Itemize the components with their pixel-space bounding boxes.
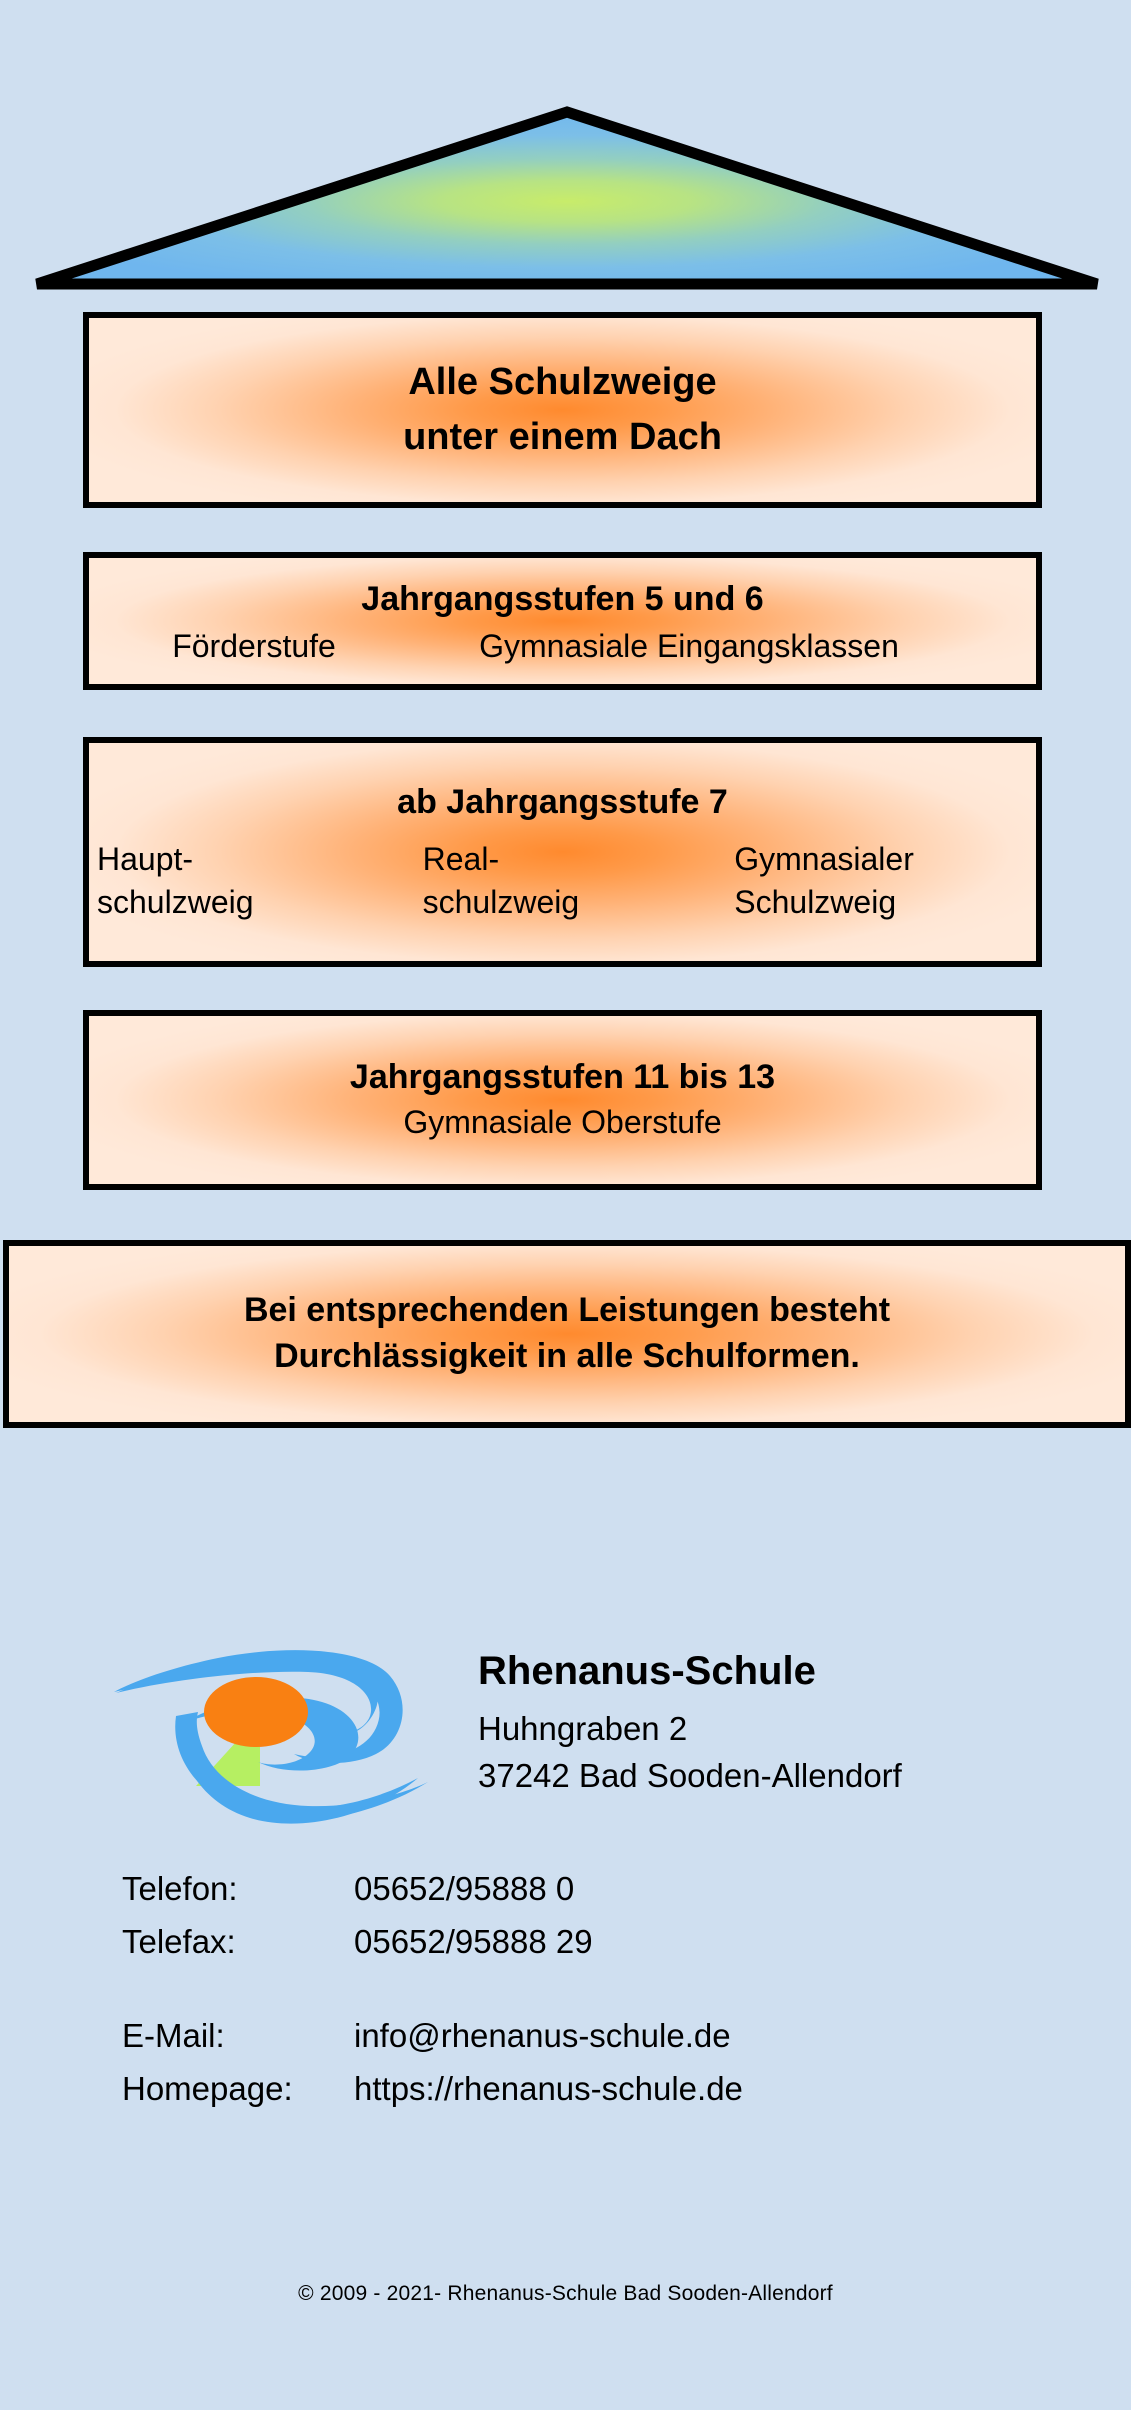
durchlaessigkeit-line-2: Durchlässigkeit in alle Schulformen. xyxy=(274,1334,860,1380)
headline-line-1: Alle Schulzweige xyxy=(408,355,716,410)
zweig-hauptschule-line-1: Haupt- xyxy=(97,838,405,881)
telefon-value: 05652/95888 0 xyxy=(354,1862,1022,1915)
box-stufen-5-6: Jahrgangsstufen 5 und 6 Förderstufe Gymn… xyxy=(83,552,1042,690)
contact-block: Telefon: 05652/95888 0 Telefax: 05652/95… xyxy=(122,1862,1022,2116)
box-durchlaessigkeit: Bei entsprechenden Leistungen besteht Du… xyxy=(3,1240,1131,1428)
headline-line-2: unter einem Dach xyxy=(403,410,722,465)
roof-triangle xyxy=(0,0,1131,300)
page-root: Alle Schulzweige unter einem Dach Jahrga… xyxy=(0,0,1131,2410)
zweig-realschule-line-2: schulzweig xyxy=(423,881,721,924)
box-headline: Alle Schulzweige unter einem Dach xyxy=(83,312,1042,508)
ab-stufe-7-columns: Haupt- schulzweig Real- schulzweig Gymna… xyxy=(89,838,1036,924)
zweig-gymnasium-line-1: Gymnasialer xyxy=(734,838,1036,881)
address-street: Huhngraben 2 xyxy=(478,1706,1118,1753)
homepage-label: Homepage: xyxy=(122,2062,354,2115)
contact-row-telefax: Telefax: 05652/95888 29 xyxy=(122,1915,1022,1968)
zweig-realschule: Real- schulzweig xyxy=(405,838,721,924)
telefax-value: 05652/95888 29 xyxy=(354,1915,1022,1968)
contact-spacer xyxy=(122,1969,1022,2009)
address-city: 37242 Bad Sooden-Allendorf xyxy=(478,1753,1118,1800)
telefax-label: Telefax: xyxy=(122,1915,354,1968)
homepage-value[interactable]: https://rhenanus-schule.de xyxy=(354,2062,1022,2115)
zweig-hauptschule-line-2: schulzweig xyxy=(97,881,405,924)
email-label: E-Mail: xyxy=(122,2009,354,2062)
footer-copyright: © 2009 - 2021- Rhenanus-Schule Bad Soode… xyxy=(0,2282,1131,2306)
brand-block: Rhenanus-Schule Huhngraben 2 37242 Bad S… xyxy=(0,1630,1131,1900)
email-value[interactable]: info@rhenanus-schule.de xyxy=(354,2009,1022,2062)
school-name: Rhenanus-Schule xyxy=(478,1648,1118,1694)
durchlaessigkeit-line-1: Bei entsprechenden Leistungen besteht xyxy=(244,1288,890,1334)
contact-row-email: E-Mail: info@rhenanus-schule.de xyxy=(122,2009,1022,2062)
contact-row-telefon: Telefon: 05652/95888 0 xyxy=(122,1862,1022,1915)
stufen-5-6-columns: Förderstufe Gymnasiale Eingangsklassen xyxy=(89,628,1036,665)
zweig-gymnasium-line-2: Schulzweig xyxy=(734,881,1036,924)
rhenanus-schule-logo xyxy=(108,1650,438,1850)
logo-orange-dot xyxy=(204,1677,308,1747)
box-stufen-11-13: Jahrgangsstufen 11 bis 13 Gymnasiale Obe… xyxy=(83,1010,1042,1190)
stufen-11-13-heading: Jahrgangsstufen 11 bis 13 xyxy=(350,1055,775,1101)
stufen-5-6-eingangsklassen: Gymnasiale Eingangsklassen xyxy=(419,628,959,665)
telefon-label: Telefon: xyxy=(122,1862,354,1915)
zweig-realschule-line-1: Real- xyxy=(423,838,721,881)
stufen-5-6-heading: Jahrgangsstufen 5 und 6 xyxy=(361,577,763,623)
stufen-5-6-foerderstufe: Förderstufe xyxy=(89,628,419,665)
zweig-hauptschule: Haupt- schulzweig xyxy=(89,838,405,924)
brand-text-block: Rhenanus-Schule Huhngraben 2 37242 Bad S… xyxy=(478,1648,1118,1800)
zweig-gymnasium: Gymnasialer Schulzweig xyxy=(720,838,1036,924)
box-ab-stufe-7: ab Jahrgangsstufe 7 Haupt- schulzweig Re… xyxy=(83,737,1042,967)
ab-stufe-7-heading: ab Jahrgangsstufe 7 xyxy=(397,780,728,826)
stufen-11-13-subheading: Gymnasiale Oberstufe xyxy=(403,1101,721,1144)
contact-row-homepage: Homepage: https://rhenanus-schule.de xyxy=(122,2062,1022,2115)
roof-shape xyxy=(37,112,1097,284)
